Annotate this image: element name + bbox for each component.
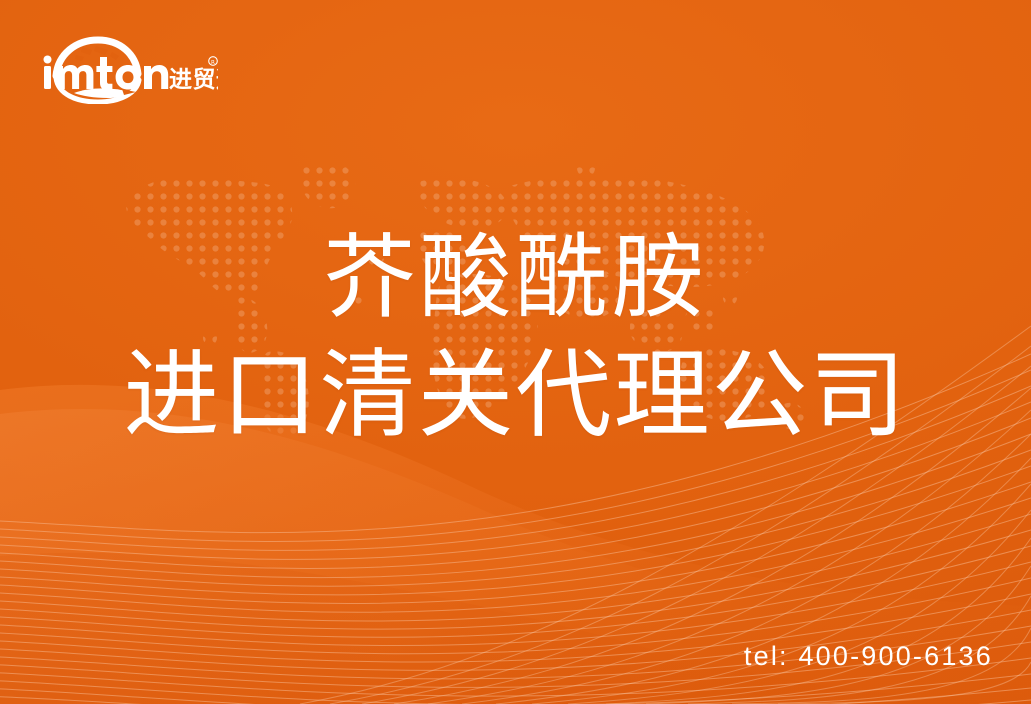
promo-banner: 进贸通 R 芥酸酰胺 进口清关代理公司 tel: 400-900-6136 [0, 0, 1031, 704]
headline: 芥酸酰胺 进口清关代理公司 [0, 232, 1031, 444]
registered-trademark-icon: R [209, 57, 218, 66]
headline-line-2: 进口清关代理公司 [0, 348, 1031, 444]
svg-text:R: R [211, 60, 215, 66]
svg-text:进贸通: 进贸通 [169, 67, 218, 93]
logo-wordmark-chinese: 进贸通 [169, 67, 218, 93]
globe-continents-icon [75, 46, 119, 61]
phone-number[interactable]: tel: 400-900-6136 [744, 641, 993, 672]
company-logo[interactable]: 进贸通 R [38, 30, 218, 104]
headline-line-1: 芥酸酰胺 [0, 232, 1031, 324]
